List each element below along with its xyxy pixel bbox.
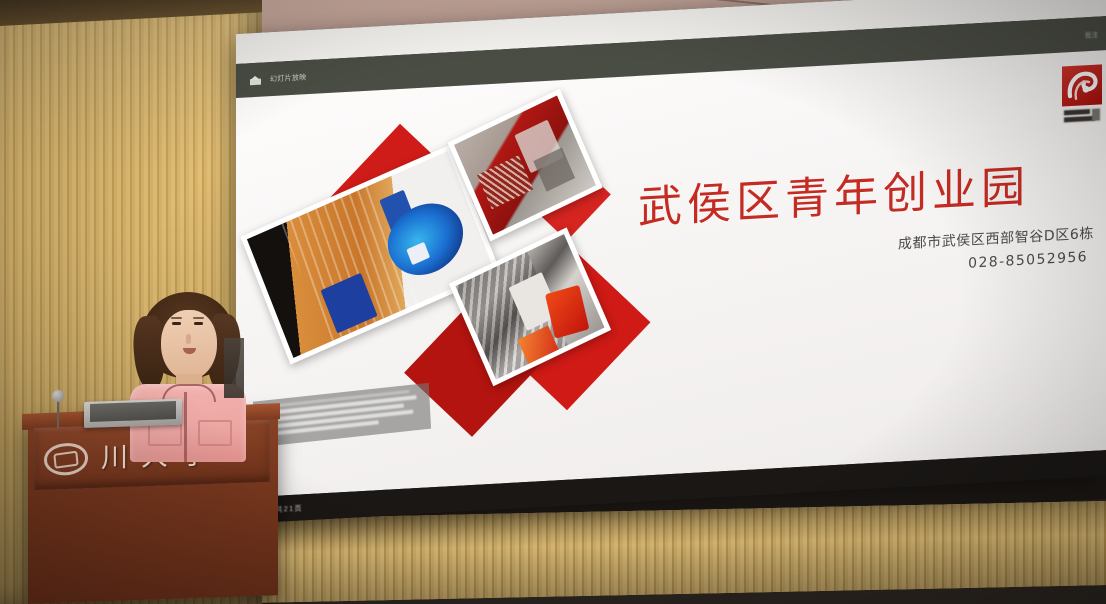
- projection-screen: 幻灯片放映 批注: [236, 0, 1106, 524]
- slide-canvas: 武侯区青年创业园 成都市武侯区西部智谷D区6栋 028-85052956: [236, 50, 1106, 498]
- university-seal-icon: [44, 442, 88, 476]
- home-icon[interactable]: [250, 75, 261, 85]
- logo-caption-line: [1064, 109, 1090, 115]
- logo-caption: [1062, 106, 1102, 124]
- logo-mark-icon: [1062, 64, 1102, 106]
- slide-phone-number: 028-85052956: [968, 249, 1088, 272]
- microphone-icon: [52, 390, 64, 402]
- slide-subtitle-address: 成都市武侯区西部智谷D区6栋: [898, 223, 1094, 254]
- speaker-pocket: [198, 420, 232, 446]
- speaker-nose: [186, 334, 191, 344]
- toolbar-right-label[interactable]: 批注: [1085, 29, 1098, 40]
- presentation-scene: 幻灯片放映 批注: [0, 0, 1106, 604]
- slide-title: 武侯区青年创业园: [638, 150, 1030, 236]
- toolbar-home-label: 幻灯片放映: [270, 72, 307, 84]
- speaker-brow: [193, 317, 204, 319]
- background-object: [224, 338, 244, 398]
- podium-char: 川: [101, 444, 128, 472]
- organization-logo: [1062, 64, 1102, 124]
- speaker-eye: [194, 322, 203, 325]
- speaker-brow: [171, 317, 182, 319]
- toolbar-left-group[interactable]: 幻灯片放映: [250, 72, 307, 85]
- laptop-screen: [90, 401, 176, 422]
- microphone-stand: [57, 398, 59, 428]
- speaker-eye: [172, 322, 181, 325]
- logo-caption-line: [1064, 116, 1095, 123]
- logo-swirl-icon: [1062, 64, 1102, 106]
- speaker-placket: [184, 392, 187, 462]
- logo-caption-line: [1092, 108, 1100, 120]
- speaker-face: [161, 310, 217, 380]
